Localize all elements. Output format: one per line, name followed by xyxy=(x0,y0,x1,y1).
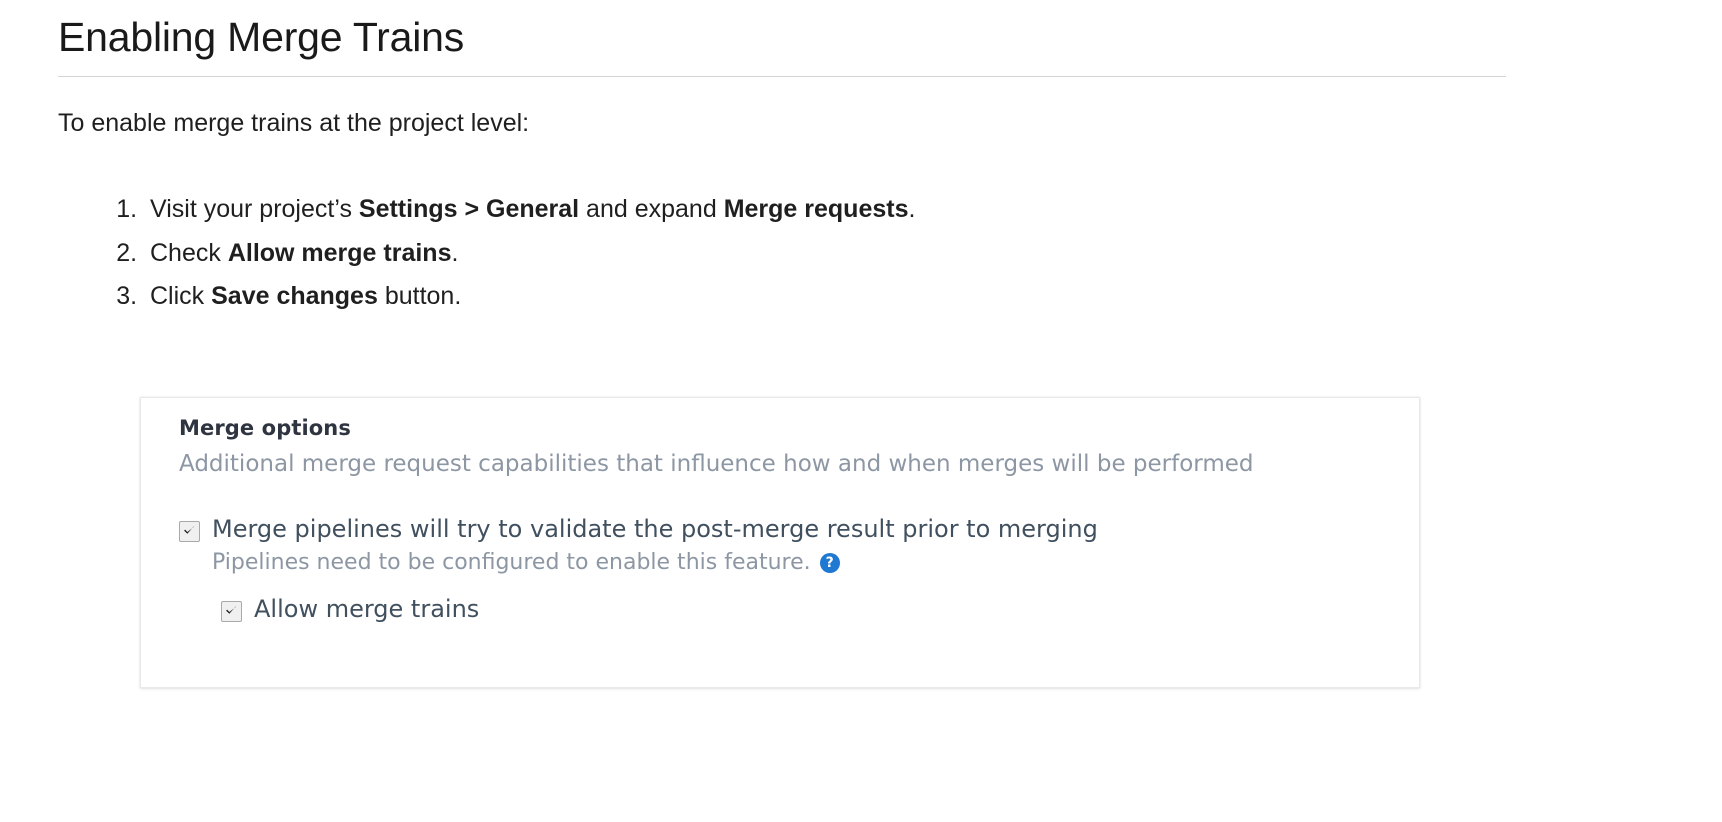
intro-paragraph: To enable merge trains at the project le… xyxy=(58,105,529,141)
emphasis-text: Merge requests xyxy=(724,195,909,223)
plain-text: Visit your project’s xyxy=(150,195,359,223)
option-label: Allow merge trains xyxy=(254,594,479,625)
documentation-page: Enabling Merge Trains To enable merge tr… xyxy=(0,0,1722,822)
plain-text: Click xyxy=(150,282,211,310)
steps-list: Visit your project’s Settings > General … xyxy=(108,188,915,319)
merge-options-heading: Merge options xyxy=(179,414,1399,443)
list-item: Visit your project’s Settings > General … xyxy=(144,188,915,232)
emphasis-text: Settings > General xyxy=(359,195,579,223)
checkbox-checked-icon[interactable] xyxy=(221,601,242,622)
list-item: Check Allow merge trains. xyxy=(144,232,915,276)
checkbox-checked-icon[interactable] xyxy=(179,521,200,542)
option-help-row: Pipelines need to be configured to enabl… xyxy=(212,549,1399,578)
emphasis-text: Save changes xyxy=(211,282,378,310)
emphasis-text: Allow merge trains xyxy=(228,239,452,267)
title-divider xyxy=(58,76,1506,77)
option-label: Merge pipelines will try to validate the… xyxy=(212,514,1098,545)
merge-options-description: Additional merge request capabilities th… xyxy=(179,449,1399,480)
merge-options-panel: Merge options Additional merge request c… xyxy=(179,414,1399,624)
page-title: Enabling Merge Trains xyxy=(58,12,464,63)
option-merge-pipelines[interactable]: Merge pipelines will try to validate the… xyxy=(179,514,1399,545)
plain-text: . xyxy=(908,195,915,223)
plain-text: . xyxy=(451,239,458,267)
option-help-text: Pipelines need to be configured to enabl… xyxy=(212,549,811,578)
plain-text: button. xyxy=(378,282,461,310)
embedded-screenshot: Merge options Additional merge request c… xyxy=(140,397,1420,688)
question-circle-icon[interactable]: ? xyxy=(820,553,840,573)
option-allow-merge-trains[interactable]: Allow merge trains xyxy=(221,594,1399,625)
plain-text: and expand xyxy=(579,195,724,223)
list-item: Click Save changes button. xyxy=(144,275,915,319)
plain-text: Check xyxy=(150,239,228,267)
